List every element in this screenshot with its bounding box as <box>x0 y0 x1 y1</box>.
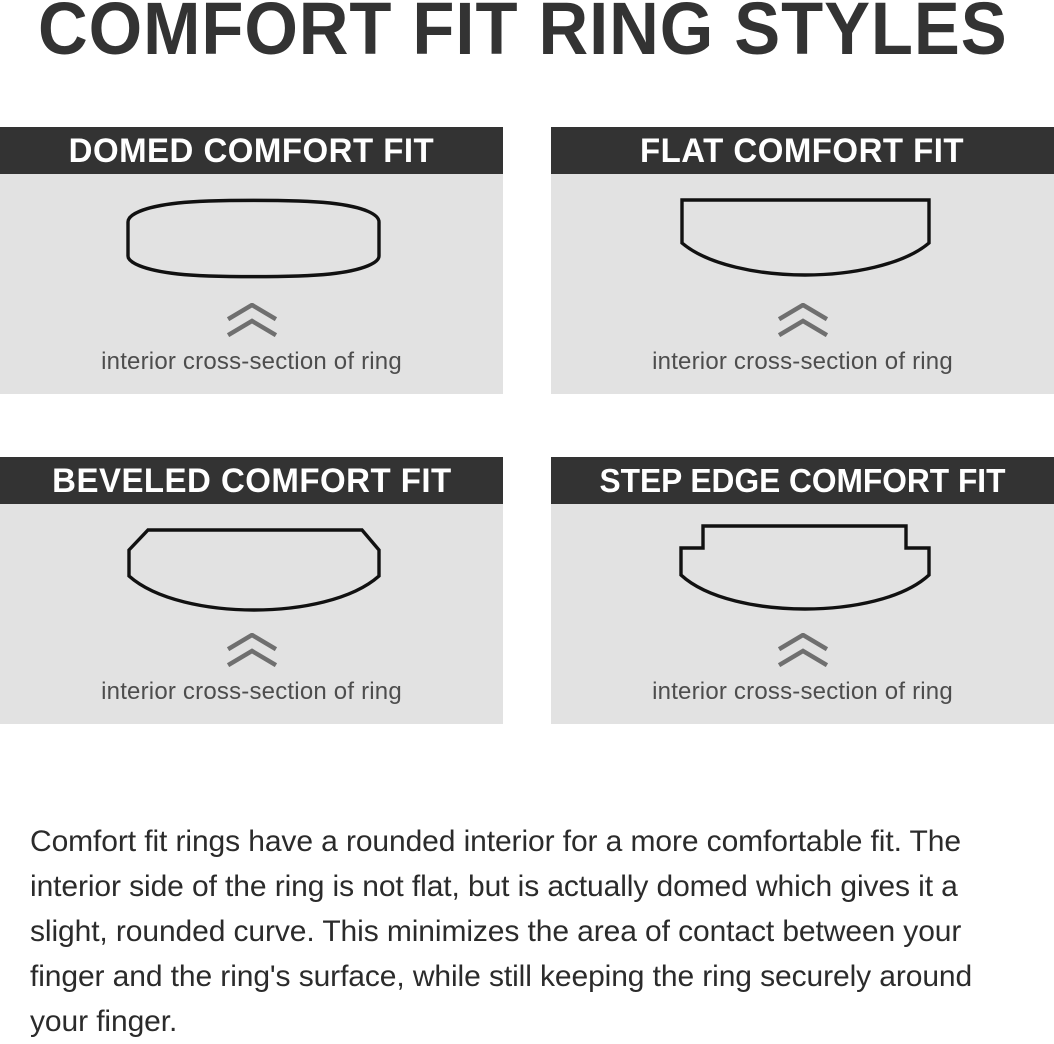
panel-body-domed: interior cross-section of ring <box>0 174 503 394</box>
ring-style-grid: DOMED COMFORT FIT interior cross-section… <box>0 127 1054 724</box>
double-chevron-up-icon <box>551 296 1054 344</box>
caption-step-edge: interior cross-section of ring <box>551 678 1054 706</box>
panel-header-label-beveled: BEVELED COMFORT FIT <box>52 464 451 498</box>
step-edge-cross-section <box>551 504 1054 634</box>
panel-header-step-edge: STEP EDGE COMFORT FIT <box>551 457 1054 504</box>
panel-beveled-comfort-fit: BEVELED COMFORT FIT interior cross-secti… <box>0 457 503 724</box>
panel-header-label-flat: FLAT COMFORT FIT <box>640 134 964 168</box>
panel-body-beveled: interior cross-section of ring <box>0 504 503 724</box>
double-chevron-up-icon <box>0 626 503 674</box>
beveled-cross-section <box>0 504 503 634</box>
flat-cross-section <box>551 174 1054 304</box>
panel-flat-comfort-fit: FLAT COMFORT FIT interior cross-section … <box>551 127 1054 394</box>
panel-body-step-edge: interior cross-section of ring <box>551 504 1054 724</box>
panel-row-bottom: BEVELED COMFORT FIT interior cross-secti… <box>0 457 1054 724</box>
panel-row-top: DOMED COMFORT FIT interior cross-section… <box>0 127 1054 394</box>
caption-domed: interior cross-section of ring <box>0 348 503 376</box>
panel-header-label-domed: DOMED COMFORT FIT <box>69 134 434 168</box>
double-chevron-up-icon <box>551 626 1054 674</box>
panel-header-label-step-edge: STEP EDGE COMFORT FIT <box>599 464 1005 498</box>
panel-step-edge-comfort-fit: STEP EDGE COMFORT FIT interior cross-sec… <box>551 457 1054 724</box>
panel-header-beveled: BEVELED COMFORT FIT <box>0 457 503 504</box>
panel-domed-comfort-fit: DOMED COMFORT FIT interior cross-section… <box>0 127 503 394</box>
panel-header-domed: DOMED COMFORT FIT <box>0 127 503 174</box>
double-chevron-up-icon <box>0 296 503 344</box>
description-paragraph: Comfort fit rings have a rounded interio… <box>30 819 1030 1044</box>
domed-cross-section <box>0 174 503 304</box>
page-title: COMFORT FIT RING STYLES <box>38 0 1008 66</box>
caption-flat: interior cross-section of ring <box>551 348 1054 376</box>
caption-beveled: interior cross-section of ring <box>0 678 503 706</box>
panel-header-flat: FLAT COMFORT FIT <box>551 127 1054 174</box>
panel-body-flat: interior cross-section of ring <box>551 174 1054 394</box>
